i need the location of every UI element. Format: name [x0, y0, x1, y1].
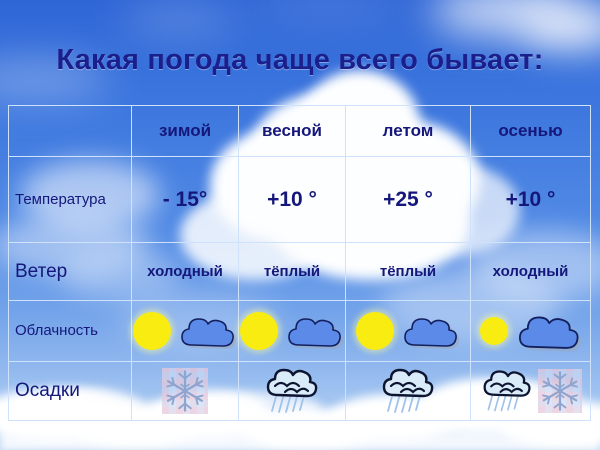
table-row-temperature: Температура - 15° +10 ° +25 ° +10 °	[9, 157, 591, 243]
column-header-spring: весной	[239, 106, 346, 157]
icon-group	[138, 362, 232, 420]
temperature-value: - 15°	[138, 188, 232, 212]
weather-table-wrap: зимой весной летом осенью Температура - …	[8, 105, 590, 415]
cell-cloudiness-autumn	[471, 301, 591, 362]
cell-precipitation-winter	[132, 362, 239, 421]
wind-value: тёплый	[352, 263, 464, 280]
weather-table: зимой весной летом осенью Температура - …	[8, 105, 591, 421]
cell-cloudiness-winter	[132, 301, 239, 362]
cloud-icon	[282, 311, 344, 351]
sun-icon	[356, 312, 394, 350]
page-title: Какая погода чаще всего бывает:	[0, 44, 600, 77]
column-header-autumn: осенью	[471, 106, 591, 157]
icon-group	[245, 362, 339, 420]
cell-wind-summer: тёплый	[346, 243, 471, 301]
cloud-icon	[175, 311, 237, 351]
cell-temperature-summer: +25 °	[346, 157, 471, 243]
column-header-label: зимой	[138, 121, 232, 141]
temperature-value: +10 °	[245, 188, 339, 212]
cell-wind-autumn: холодный	[471, 243, 591, 301]
column-header-label: весной	[245, 121, 339, 141]
column-header-winter: зимой	[132, 106, 239, 157]
table-row-precipitation: Осадки	[9, 362, 591, 421]
sun-icon	[480, 317, 508, 345]
cell-precipitation-autumn	[471, 362, 591, 421]
cell-wind-winter: холодный	[132, 243, 239, 301]
rain-cloud-icon	[263, 366, 321, 416]
sun-icon	[133, 312, 171, 350]
cell-temperature-spring: +10 °	[239, 157, 346, 243]
column-header-label: осенью	[477, 121, 584, 141]
column-header-label: летом	[352, 121, 464, 141]
cell-cloudiness-spring	[239, 301, 346, 362]
cell-temperature-autumn: +10 °	[471, 157, 591, 243]
icon-group	[138, 301, 232, 361]
row-label-cell: Ветер	[9, 243, 132, 301]
column-header-summer: летом	[346, 106, 471, 157]
sun-icon	[240, 312, 278, 350]
cell-precipitation-spring	[239, 362, 346, 421]
icon-group	[477, 301, 584, 361]
row-label-cell: Температура	[9, 157, 132, 243]
snowflake-icon	[538, 369, 582, 413]
icon-group	[352, 301, 464, 361]
rain-cloud-icon	[379, 366, 437, 416]
wind-value: холодный	[138, 263, 232, 280]
row-label-temperature: Температура	[15, 191, 125, 208]
wind-value: холодный	[477, 263, 584, 280]
table-header-row: зимой весной летом осенью	[9, 106, 591, 157]
row-label-precipitation: Осадки	[15, 380, 125, 402]
cell-cloudiness-summer	[346, 301, 471, 362]
table-corner-cell	[9, 106, 132, 157]
icon-group	[245, 301, 339, 361]
wind-value: тёплый	[245, 263, 339, 280]
icon-group	[477, 362, 584, 420]
temperature-value: +25 °	[352, 188, 464, 212]
icon-group	[352, 362, 464, 420]
table-row-cloudiness: Облачность	[9, 301, 591, 362]
row-label-cell: Осадки	[9, 362, 132, 421]
wispy-cloud	[120, 6, 240, 32]
cell-temperature-winter: - 15°	[132, 157, 239, 243]
cell-wind-spring: тёплый	[239, 243, 346, 301]
cloud-icon	[398, 311, 460, 351]
table-row-wind: Ветер холодный тёплый тёплый холодный	[9, 243, 591, 301]
cell-precipitation-summer	[346, 362, 471, 421]
row-label-wind: Ветер	[15, 261, 125, 283]
row-label-cell: Облачность	[9, 301, 132, 362]
row-label-cloudiness: Облачность	[15, 322, 125, 339]
cloud-icon	[512, 308, 582, 354]
temperature-value: +10 °	[477, 188, 584, 212]
rain-cloud-icon	[480, 367, 534, 415]
snowflake-icon	[162, 368, 208, 414]
